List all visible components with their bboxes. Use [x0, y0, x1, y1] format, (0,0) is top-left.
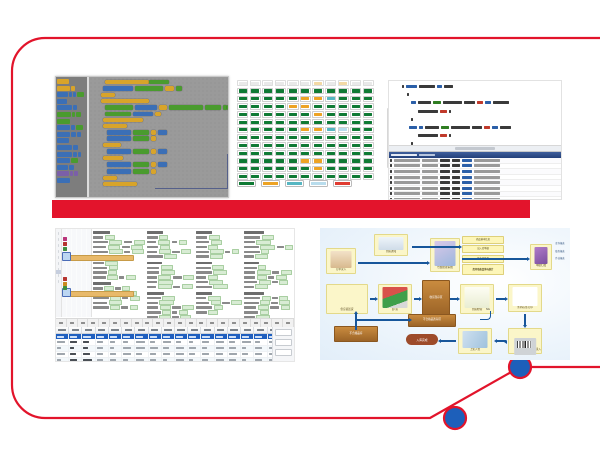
scheduler-tool-button[interactable] — [58, 262, 59, 265]
table-cell[interactable] — [201, 352, 214, 357]
scheduler-tool-button[interactable] — [58, 274, 59, 277]
table-header-cell[interactable] — [228, 327, 241, 333]
grid-cell[interactable] — [338, 134, 349, 140]
table-cell[interactable] — [135, 339, 148, 344]
grid-cell[interactable] — [275, 103, 286, 109]
grid-cell[interactable] — [338, 158, 349, 164]
grid-cell[interactable] — [275, 142, 286, 148]
table-header-cell[interactable] — [188, 327, 201, 333]
blocks-workspace[interactable] — [89, 77, 228, 197]
table-cell[interactable] — [135, 358, 148, 362]
wms-output-tag[interactable]: 账务报表 — [552, 250, 568, 255]
scheduler-tool-button[interactable] — [58, 256, 59, 259]
grid-cell[interactable] — [287, 80, 298, 86]
palette-block[interactable] — [57, 99, 86, 104]
wms-function-tag[interactable]: 出入库单据 — [462, 245, 504, 253]
table-cell[interactable] — [96, 352, 109, 357]
palette-block[interactable] — [57, 112, 86, 117]
grid-cell[interactable] — [350, 96, 361, 102]
workspace-block[interactable] — [101, 99, 149, 103]
grid-cell[interactable] — [237, 150, 248, 156]
grid-cell[interactable] — [262, 134, 273, 140]
grid-cell[interactable] — [363, 127, 374, 133]
grid-cell[interactable] — [350, 80, 361, 86]
table-cell[interactable] — [228, 346, 241, 351]
grid-cell[interactable] — [312, 80, 323, 86]
table-header-cell[interactable] — [175, 327, 188, 333]
table-header-cell[interactable] — [56, 327, 69, 333]
grid-cell[interactable] — [250, 111, 261, 117]
grid-cell[interactable] — [250, 103, 261, 109]
grid-cell[interactable] — [262, 119, 273, 125]
code-editor-body[interactable] — [389, 81, 561, 146]
table-cell[interactable] — [228, 352, 241, 357]
grid-cell[interactable] — [363, 158, 374, 164]
grid-cell[interactable] — [287, 88, 298, 94]
wms-function-tag[interactable]: 库存动态查询与统计 — [462, 264, 504, 275]
table-cell[interactable] — [175, 358, 188, 362]
table-cell[interactable] — [82, 358, 95, 362]
grid-cell[interactable] — [300, 103, 311, 109]
workspace-block[interactable] — [133, 130, 149, 135]
grid-cell[interactable] — [350, 166, 361, 172]
table-cell[interactable] — [96, 346, 109, 351]
table-cell[interactable] — [96, 358, 109, 362]
table-cell[interactable] — [69, 339, 82, 344]
blocks-palette[interactable] — [56, 77, 89, 198]
grid-cell[interactable] — [275, 96, 286, 102]
grid-cell[interactable] — [312, 103, 323, 109]
workspace-block[interactable] — [103, 86, 133, 91]
table-cell[interactable] — [228, 339, 241, 344]
grid-cell[interactable] — [325, 111, 336, 117]
grid-cell[interactable] — [262, 127, 273, 133]
grid-cell[interactable] — [300, 134, 311, 140]
workspace-block[interactable] — [149, 80, 169, 84]
table-header-cell[interactable] — [96, 327, 109, 333]
palette-block[interactable] — [57, 152, 86, 157]
palette-block[interactable] — [57, 165, 86, 170]
grid-cell[interactable] — [300, 166, 311, 172]
code-and-log-panel[interactable] — [388, 80, 562, 200]
grid-cell[interactable] — [363, 142, 374, 148]
table-cell[interactable] — [135, 346, 148, 351]
grid-cell[interactable] — [363, 173, 374, 179]
table-cell[interactable] — [69, 346, 82, 351]
scheduler-tool-button[interactable] — [58, 250, 59, 253]
flow-node-receiving-area[interactable]: 收货暂存区 — [422, 280, 450, 316]
table-header-cell[interactable] — [122, 327, 135, 333]
workspace-block[interactable] — [105, 112, 131, 116]
grid-cell[interactable] — [275, 111, 286, 117]
flow-node-arrival-notice[interactable]: 到货通知 — [374, 234, 408, 256]
grid-cell[interactable] — [325, 166, 336, 172]
table-cell[interactable] — [201, 339, 214, 344]
table-cell[interactable] — [241, 358, 254, 362]
workspace-block[interactable] — [103, 124, 127, 128]
workspace-block[interactable] — [165, 86, 174, 91]
grid-cell[interactable] — [287, 142, 298, 148]
table-header-cell[interactable] — [241, 327, 254, 333]
table-cell[interactable] — [215, 358, 228, 362]
workspace-block[interactable] — [107, 136, 131, 141]
table-cell[interactable] — [228, 358, 241, 362]
table-cell[interactable] — [241, 352, 254, 357]
palette-block[interactable] — [57, 105, 86, 110]
log-console-rows[interactable] — [389, 158, 561, 200]
grid-cell[interactable] — [350, 142, 361, 148]
table-cell[interactable] — [56, 352, 69, 357]
scheduler-tool-button[interactable] — [58, 232, 59, 235]
table-cell[interactable] — [69, 358, 82, 362]
grid-cell[interactable] — [325, 80, 336, 86]
palette-block[interactable] — [57, 178, 86, 183]
grid-cell[interactable] — [363, 111, 374, 117]
wms-output-tag[interactable]: 库存报表 — [552, 242, 568, 247]
scheduler-action-buttons[interactable] — [272, 327, 294, 361]
scheduler-action-button[interactable] — [275, 339, 292, 346]
workspace-block[interactable] — [133, 169, 149, 174]
table-cell[interactable] — [162, 339, 175, 344]
grid-cell[interactable] — [287, 111, 298, 117]
grid-cell[interactable] — [338, 111, 349, 117]
grid-cell[interactable] — [363, 96, 374, 102]
scheduler-data-table[interactable] — [56, 327, 294, 361]
table-cell[interactable] — [82, 339, 95, 344]
warehouse-inbound-flow-diagram[interactable]: 入库作业流程图 供应商送货卸 货到货检验条码标签打印扫描录入上架入位到货通知订单… — [320, 228, 570, 360]
grid-cell[interactable] — [275, 150, 286, 156]
grid-cell[interactable] — [338, 173, 349, 179]
workspace-block[interactable] — [107, 149, 131, 154]
workspace-block[interactable] — [158, 149, 167, 154]
grid-cell[interactable] — [338, 150, 349, 156]
grid-cell[interactable] — [350, 119, 361, 125]
flow-node-nonconform-zone[interactable]: 不合格品暂存区 — [408, 314, 456, 327]
grid-cell[interactable] — [363, 134, 374, 140]
grid-cell[interactable] — [287, 103, 298, 109]
grid-cell[interactable] — [250, 173, 261, 179]
grid-cell[interactable] — [350, 134, 361, 140]
grid-cell[interactable] — [325, 173, 336, 179]
grid-cell[interactable] — [237, 142, 248, 148]
grid-cell[interactable] — [300, 142, 311, 148]
palette-block[interactable] — [57, 92, 86, 97]
table-cell[interactable] — [149, 358, 162, 362]
grid-cell[interactable] — [350, 103, 361, 109]
grid-cell[interactable] — [237, 134, 248, 140]
flow-node-doc-archive[interactable]: 单据归档 — [530, 244, 552, 270]
grid-cell[interactable] — [275, 127, 286, 133]
grid-cell[interactable] — [237, 119, 248, 125]
grid-cell[interactable] — [287, 166, 298, 172]
table-cell[interactable] — [162, 358, 175, 362]
grid-cell[interactable] — [237, 173, 248, 179]
grid-cell[interactable] — [287, 158, 298, 164]
grid-cell[interactable] — [363, 88, 374, 94]
table-header-cell[interactable] — [109, 327, 122, 333]
grid-cell[interactable] — [237, 96, 248, 102]
grid-cell[interactable] — [300, 88, 311, 94]
table-cell[interactable] — [215, 339, 228, 344]
grid-cell[interactable] — [262, 166, 273, 172]
grid-cell[interactable] — [250, 80, 261, 86]
table-cell[interactable] — [188, 358, 201, 362]
table-cell[interactable] — [122, 339, 135, 344]
table-cell[interactable] — [201, 358, 214, 362]
table-header-cell[interactable] — [69, 327, 82, 333]
workspace-block[interactable] — [151, 149, 156, 154]
palette-block[interactable] — [57, 171, 86, 176]
table-cell[interactable] — [69, 352, 82, 357]
table-cell[interactable] — [122, 346, 135, 351]
table-cell[interactable] — [109, 358, 122, 362]
grid-cell[interactable] — [312, 158, 323, 164]
table-header-cell[interactable] — [149, 327, 162, 333]
table-cell[interactable] — [241, 346, 254, 351]
grid-cell[interactable] — [312, 173, 323, 179]
grid-cell[interactable] — [325, 103, 336, 109]
grid-cell[interactable] — [338, 142, 349, 148]
table-cell[interactable] — [201, 346, 214, 351]
table-cell[interactable] — [82, 352, 95, 357]
grid-cell[interactable] — [363, 166, 374, 172]
grid-cell[interactable] — [237, 80, 248, 86]
table-cell[interactable] — [162, 346, 175, 351]
table-cell[interactable] — [254, 346, 267, 351]
table-cell[interactable] — [254, 358, 267, 362]
workspace-block[interactable] — [133, 162, 149, 167]
grid-cell[interactable] — [325, 96, 336, 102]
grid-cell[interactable] — [250, 158, 261, 164]
grid-cell[interactable] — [325, 158, 336, 164]
workspace-block[interactable] — [133, 149, 149, 154]
flow-node-putaway[interactable]: 上架入位 — [458, 328, 492, 354]
scheduler-tool-button[interactable] — [58, 280, 59, 283]
grid-cell[interactable] — [287, 134, 298, 140]
scheduler-action-button[interactable] — [275, 349, 292, 356]
grid-cell[interactable] — [300, 158, 311, 164]
grid-cell[interactable] — [338, 166, 349, 172]
palette-block[interactable] — [57, 119, 86, 124]
grid-cell[interactable] — [250, 166, 261, 172]
grid-cell[interactable] — [237, 158, 248, 164]
table-cell[interactable] — [241, 339, 254, 344]
table-cell[interactable] — [82, 346, 95, 351]
grid-cell[interactable] — [363, 103, 374, 109]
table-cell[interactable] — [175, 339, 188, 344]
grid-cell[interactable] — [275, 134, 286, 140]
grid-cell[interactable] — [262, 96, 273, 102]
table-cell[interactable] — [109, 346, 122, 351]
grid-cell[interactable] — [350, 158, 361, 164]
workspace-block[interactable] — [107, 169, 131, 174]
workspace-block[interactable] — [205, 105, 221, 110]
flow-node-unloading[interactable]: 卸 货 — [378, 284, 412, 314]
palette-block[interactable] — [57, 86, 86, 91]
blocks-editor-panel[interactable] — [55, 76, 229, 198]
grid-cell[interactable] — [262, 173, 273, 179]
workspace-block[interactable] — [176, 86, 182, 91]
grid-cell[interactable] — [300, 173, 311, 179]
scheduler-panel[interactable] — [55, 228, 295, 362]
grid-cell[interactable] — [363, 119, 374, 125]
table-header-cell[interactable] — [135, 327, 148, 333]
table-header-cell[interactable] — [201, 327, 214, 333]
gantt-chart[interactable] — [62, 229, 92, 317]
table-cell[interactable] — [96, 339, 109, 344]
grid-cell[interactable] — [325, 127, 336, 133]
workspace-block[interactable] — [151, 130, 156, 135]
flow-node-storage-complete[interactable]: 入库完成 — [406, 334, 438, 345]
workspace-block[interactable] — [155, 112, 161, 116]
grid-cell[interactable] — [325, 134, 336, 140]
palette-block[interactable] — [57, 79, 86, 84]
workspace-block[interactable] — [151, 136, 156, 141]
table-cell[interactable] — [188, 352, 201, 357]
grid-cell[interactable] — [338, 119, 349, 125]
grid-cell[interactable] — [312, 142, 323, 148]
grid-cell[interactable] — [325, 119, 336, 125]
table-cell[interactable] — [175, 346, 188, 351]
grid-cell[interactable] — [312, 134, 323, 140]
grid-cell[interactable] — [275, 173, 286, 179]
table-cell[interactable] — [175, 352, 188, 357]
grid-cell[interactable] — [350, 150, 361, 156]
table-header-cell[interactable] — [82, 327, 95, 333]
table-cell[interactable] — [215, 346, 228, 351]
grid-cell[interactable] — [262, 80, 273, 86]
grid-cell[interactable] — [350, 127, 361, 133]
table-cell[interactable] — [215, 352, 228, 357]
flow-node-scan-entry[interactable]: 扫描录入 — [508, 328, 542, 354]
log-console-panel[interactable] — [389, 151, 561, 199]
grid-cell[interactable] — [325, 88, 336, 94]
grid-cell[interactable] — [237, 127, 248, 133]
workspace-block[interactable] — [105, 80, 149, 84]
table-cell[interactable] — [188, 339, 201, 344]
table-row[interactable] — [56, 358, 294, 362]
grid-cell[interactable] — [312, 96, 323, 102]
table-header-cell[interactable] — [254, 327, 267, 333]
wms-output-tag[interactable]: 作业报表 — [552, 257, 568, 262]
grid-cell[interactable] — [262, 111, 273, 117]
table-header-cell[interactable] — [162, 327, 175, 333]
grid-cell[interactable] — [300, 127, 311, 133]
workspace-block[interactable] — [107, 162, 131, 167]
table-cell[interactable] — [135, 352, 148, 357]
palette-block[interactable] — [57, 158, 86, 163]
grid-cell[interactable] — [287, 119, 298, 125]
palette-block[interactable] — [57, 138, 86, 143]
table-cell[interactable] — [109, 339, 122, 344]
grid-cell[interactable] — [262, 142, 273, 148]
grid-cell[interactable] — [250, 134, 261, 140]
grid-cell[interactable] — [237, 88, 248, 94]
table-cell[interactable] — [149, 346, 162, 351]
workspace-block[interactable] — [159, 105, 167, 110]
grid-cell[interactable] — [363, 150, 374, 156]
workspace-block[interactable] — [227, 105, 229, 110]
table-cell[interactable] — [122, 358, 135, 362]
flow-node-wms-system[interactable]: 仓储管理系统 — [430, 238, 460, 272]
workspace-block[interactable] — [105, 105, 133, 110]
grid-cell[interactable] — [338, 127, 349, 133]
grid-cell[interactable] — [262, 150, 273, 156]
grid-cell[interactable] — [300, 80, 311, 86]
grid-cell[interactable] — [262, 88, 273, 94]
scheduler-tool-button[interactable] — [58, 244, 59, 247]
grid-cell[interactable] — [312, 88, 323, 94]
grid-cell[interactable] — [275, 119, 286, 125]
grid-cell[interactable] — [275, 166, 286, 172]
table-cell[interactable] — [188, 346, 201, 351]
grid-cell[interactable] — [312, 111, 323, 117]
grid-cell[interactable] — [312, 119, 323, 125]
grid-cell[interactable] — [300, 111, 311, 117]
grid-cell[interactable] — [338, 88, 349, 94]
grid-cell[interactable] — [312, 166, 323, 172]
grid-cell[interactable] — [363, 80, 374, 86]
scheduler-tool-button[interactable] — [58, 238, 59, 241]
flow-node-order-entry[interactable]: 订单录入 — [326, 248, 356, 274]
grid-cell[interactable] — [237, 111, 248, 117]
grid-cell[interactable] — [250, 127, 261, 133]
grid-cell[interactable] — [262, 158, 273, 164]
grid-cell[interactable] — [300, 150, 311, 156]
grid-cell[interactable] — [338, 103, 349, 109]
grid-cell[interactable] — [338, 80, 349, 86]
scheduler-action-button[interactable] — [275, 329, 292, 336]
workspace-block[interactable] — [103, 143, 121, 147]
grid-cell[interactable] — [312, 127, 323, 133]
flow-node-barcode-label[interactable]: 条码标签打印 — [508, 284, 542, 312]
workspace-block[interactable] — [103, 182, 137, 186]
table-cell[interactable] — [162, 352, 175, 357]
table-cell[interactable] — [149, 352, 162, 357]
grid-cell[interactable] — [237, 103, 248, 109]
workspace-block[interactable] — [135, 86, 163, 91]
grid-cell[interactable] — [338, 96, 349, 102]
grid-cell[interactable] — [237, 166, 248, 172]
grid-cell[interactable] — [275, 80, 286, 86]
palette-block[interactable] — [57, 145, 86, 150]
workspace-block[interactable] — [133, 112, 153, 116]
grid-cell[interactable] — [350, 88, 361, 94]
gantt-bar[interactable] — [70, 291, 134, 297]
grid-cell[interactable] — [312, 150, 323, 156]
grid-cell[interactable] — [300, 96, 311, 102]
grid-cell[interactable] — [250, 150, 261, 156]
grid-cell[interactable] — [287, 173, 298, 179]
grid-cell[interactable] — [250, 142, 261, 148]
workspace-block[interactable] — [103, 156, 123, 160]
grid-cell[interactable] — [300, 119, 311, 125]
grid-cell[interactable] — [350, 173, 361, 179]
table-cell[interactable] — [122, 352, 135, 357]
grid-cell[interactable] — [275, 88, 286, 94]
palette-block[interactable] — [57, 125, 86, 130]
palette-block[interactable] — [57, 132, 86, 137]
workspace-block[interactable] — [133, 136, 149, 141]
table-cell[interactable] — [254, 339, 267, 344]
table-cell[interactable] — [109, 352, 122, 357]
workspace-block[interactable] — [103, 118, 143, 122]
workspace-block[interactable] — [103, 176, 117, 180]
grid-cell[interactable] — [325, 142, 336, 148]
grid-cell[interactable] — [262, 103, 273, 109]
grid-cell[interactable] — [350, 111, 361, 117]
table-cell[interactable] — [56, 339, 69, 344]
